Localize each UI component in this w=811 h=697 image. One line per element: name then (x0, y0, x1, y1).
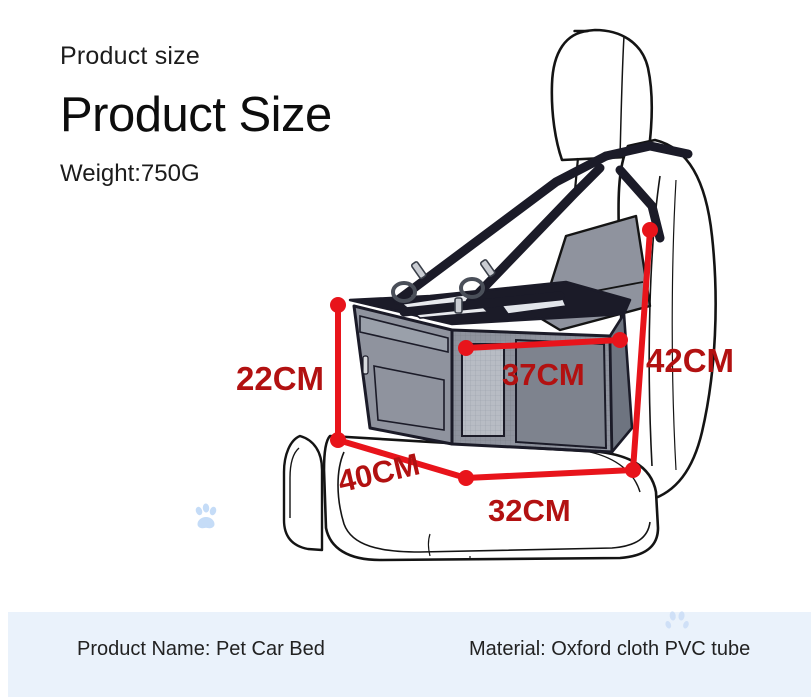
heading-block: Product size Product Size Weight:750G (60, 44, 332, 186)
page-title: Product Size (60, 91, 332, 140)
footer-product-name: Product Name: Pet Car Bed (77, 639, 325, 659)
page-kicker: Product size (60, 44, 332, 69)
car-seat-headrest (552, 30, 652, 160)
product-size-page: Product size Product Size Weight:750G (0, 0, 811, 697)
pet-car-bed (350, 216, 650, 452)
dimension-label-22: 22CM (236, 362, 324, 395)
bed-mesh-window (462, 344, 504, 436)
footer-material: Material: Oxford cloth PVC tube (469, 639, 750, 659)
zipper-pull-icon (363, 356, 368, 374)
paw-print-icon-footer (663, 608, 693, 643)
car-seat-cushion (284, 436, 658, 560)
dimension-label-32: 32CM (488, 495, 571, 526)
dimension-label-37: 37CM (502, 359, 585, 390)
dimension-label-42: 42CM (646, 344, 734, 377)
product-weight: Weight:750G (60, 162, 332, 186)
